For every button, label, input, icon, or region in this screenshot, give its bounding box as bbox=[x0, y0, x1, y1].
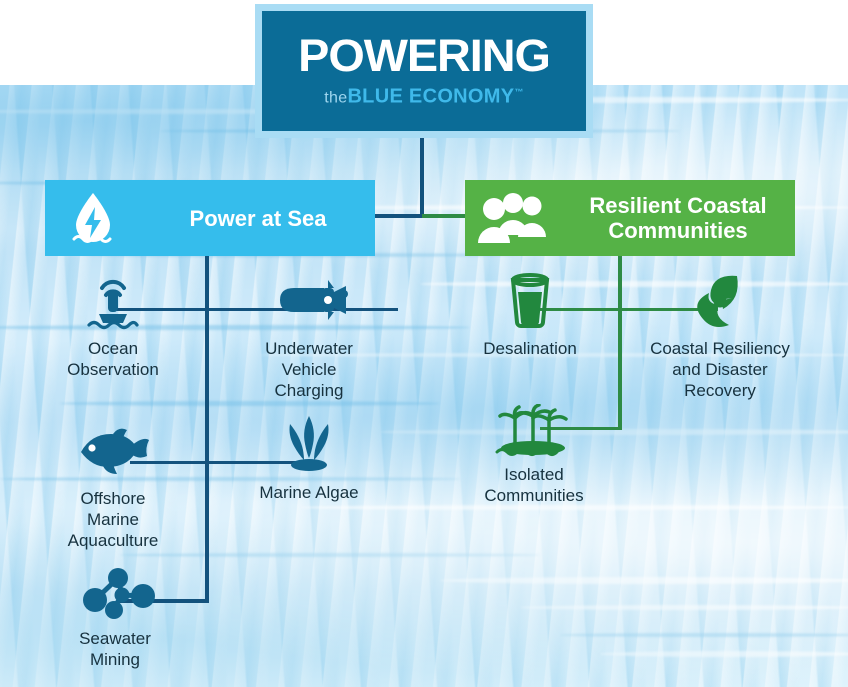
title-blue-economy: BLUE ECONOMY bbox=[347, 86, 514, 108]
node-offshore-marine-aquaculture[interactable]: Offshore Marine Aquaculture bbox=[48, 420, 178, 551]
node-desalination[interactable]: Desalination bbox=[462, 270, 598, 359]
island-palm-icon bbox=[493, 396, 575, 458]
title-secondary: theBLUE ECONOMY™ bbox=[324, 82, 523, 109]
molecule-icon bbox=[70, 560, 160, 622]
node-ocean-observation[interactable]: Ocean Observation bbox=[50, 270, 176, 380]
branch-label-text: Resilient Coastal Communities bbox=[589, 193, 766, 243]
connector-communities-trunk bbox=[618, 256, 622, 430]
node-label-underwater-vehicle-charging: Underwater Vehicle Charging bbox=[265, 338, 353, 401]
branch-header-power-at-sea[interactable]: Power at Sea bbox=[45, 180, 375, 256]
branch-label-resilient-coastal-communities: Resilient Coastal Communities bbox=[561, 193, 795, 243]
branch-label-power-at-sea: Power at Sea bbox=[141, 206, 375, 231]
node-underwater-vehicle-charging[interactable]: Underwater Vehicle Charging bbox=[244, 270, 374, 401]
connector-title-stem bbox=[420, 138, 424, 218]
branch-header-resilient-coastal-communities[interactable]: Resilient Coastal Communities bbox=[465, 180, 795, 256]
water-glass-icon bbox=[502, 270, 558, 332]
node-label-desalination: Desalination bbox=[483, 338, 577, 359]
title-primary: POWERING bbox=[298, 33, 550, 79]
underwater-vehicle-icon bbox=[266, 270, 352, 332]
people-group-icon bbox=[465, 189, 561, 247]
node-label-isolated-communities: Isolated Communities bbox=[484, 464, 583, 506]
node-isolated-communities[interactable]: Isolated Communities bbox=[468, 396, 600, 506]
infographic-canvas: POWERING theBLUE ECONOMY™ Power at Sea bbox=[0, 0, 848, 687]
buoy-signal-icon bbox=[81, 270, 145, 332]
node-marine-algae[interactable]: Marine Algae bbox=[243, 414, 375, 503]
node-label-coastal-resiliency: Coastal Resiliency and Disaster Recovery bbox=[650, 338, 790, 401]
node-label-seawater-mining: Seawater Mining bbox=[79, 628, 151, 670]
connector-title-to-power bbox=[375, 214, 423, 218]
node-seawater-mining[interactable]: Seawater Mining bbox=[52, 560, 178, 670]
water-drop-energy-icon bbox=[45, 187, 141, 249]
node-label-marine-algae: Marine Algae bbox=[259, 482, 358, 503]
hurricane-icon bbox=[689, 270, 751, 332]
node-label-offshore-marine-aquaculture: Offshore Marine Aquaculture bbox=[68, 488, 159, 551]
connector-title-to-communities bbox=[422, 214, 467, 218]
fish-icon bbox=[73, 420, 153, 482]
node-label-ocean-observation: Ocean Observation bbox=[67, 338, 159, 380]
title-card: POWERING theBLUE ECONOMY™ bbox=[255, 4, 593, 138]
algae-icon bbox=[276, 414, 342, 476]
node-coastal-resiliency[interactable]: Coastal Resiliency and Disaster Recovery bbox=[637, 270, 803, 401]
trademark-mark: ™ bbox=[514, 87, 523, 97]
title-the: the bbox=[324, 90, 347, 107]
